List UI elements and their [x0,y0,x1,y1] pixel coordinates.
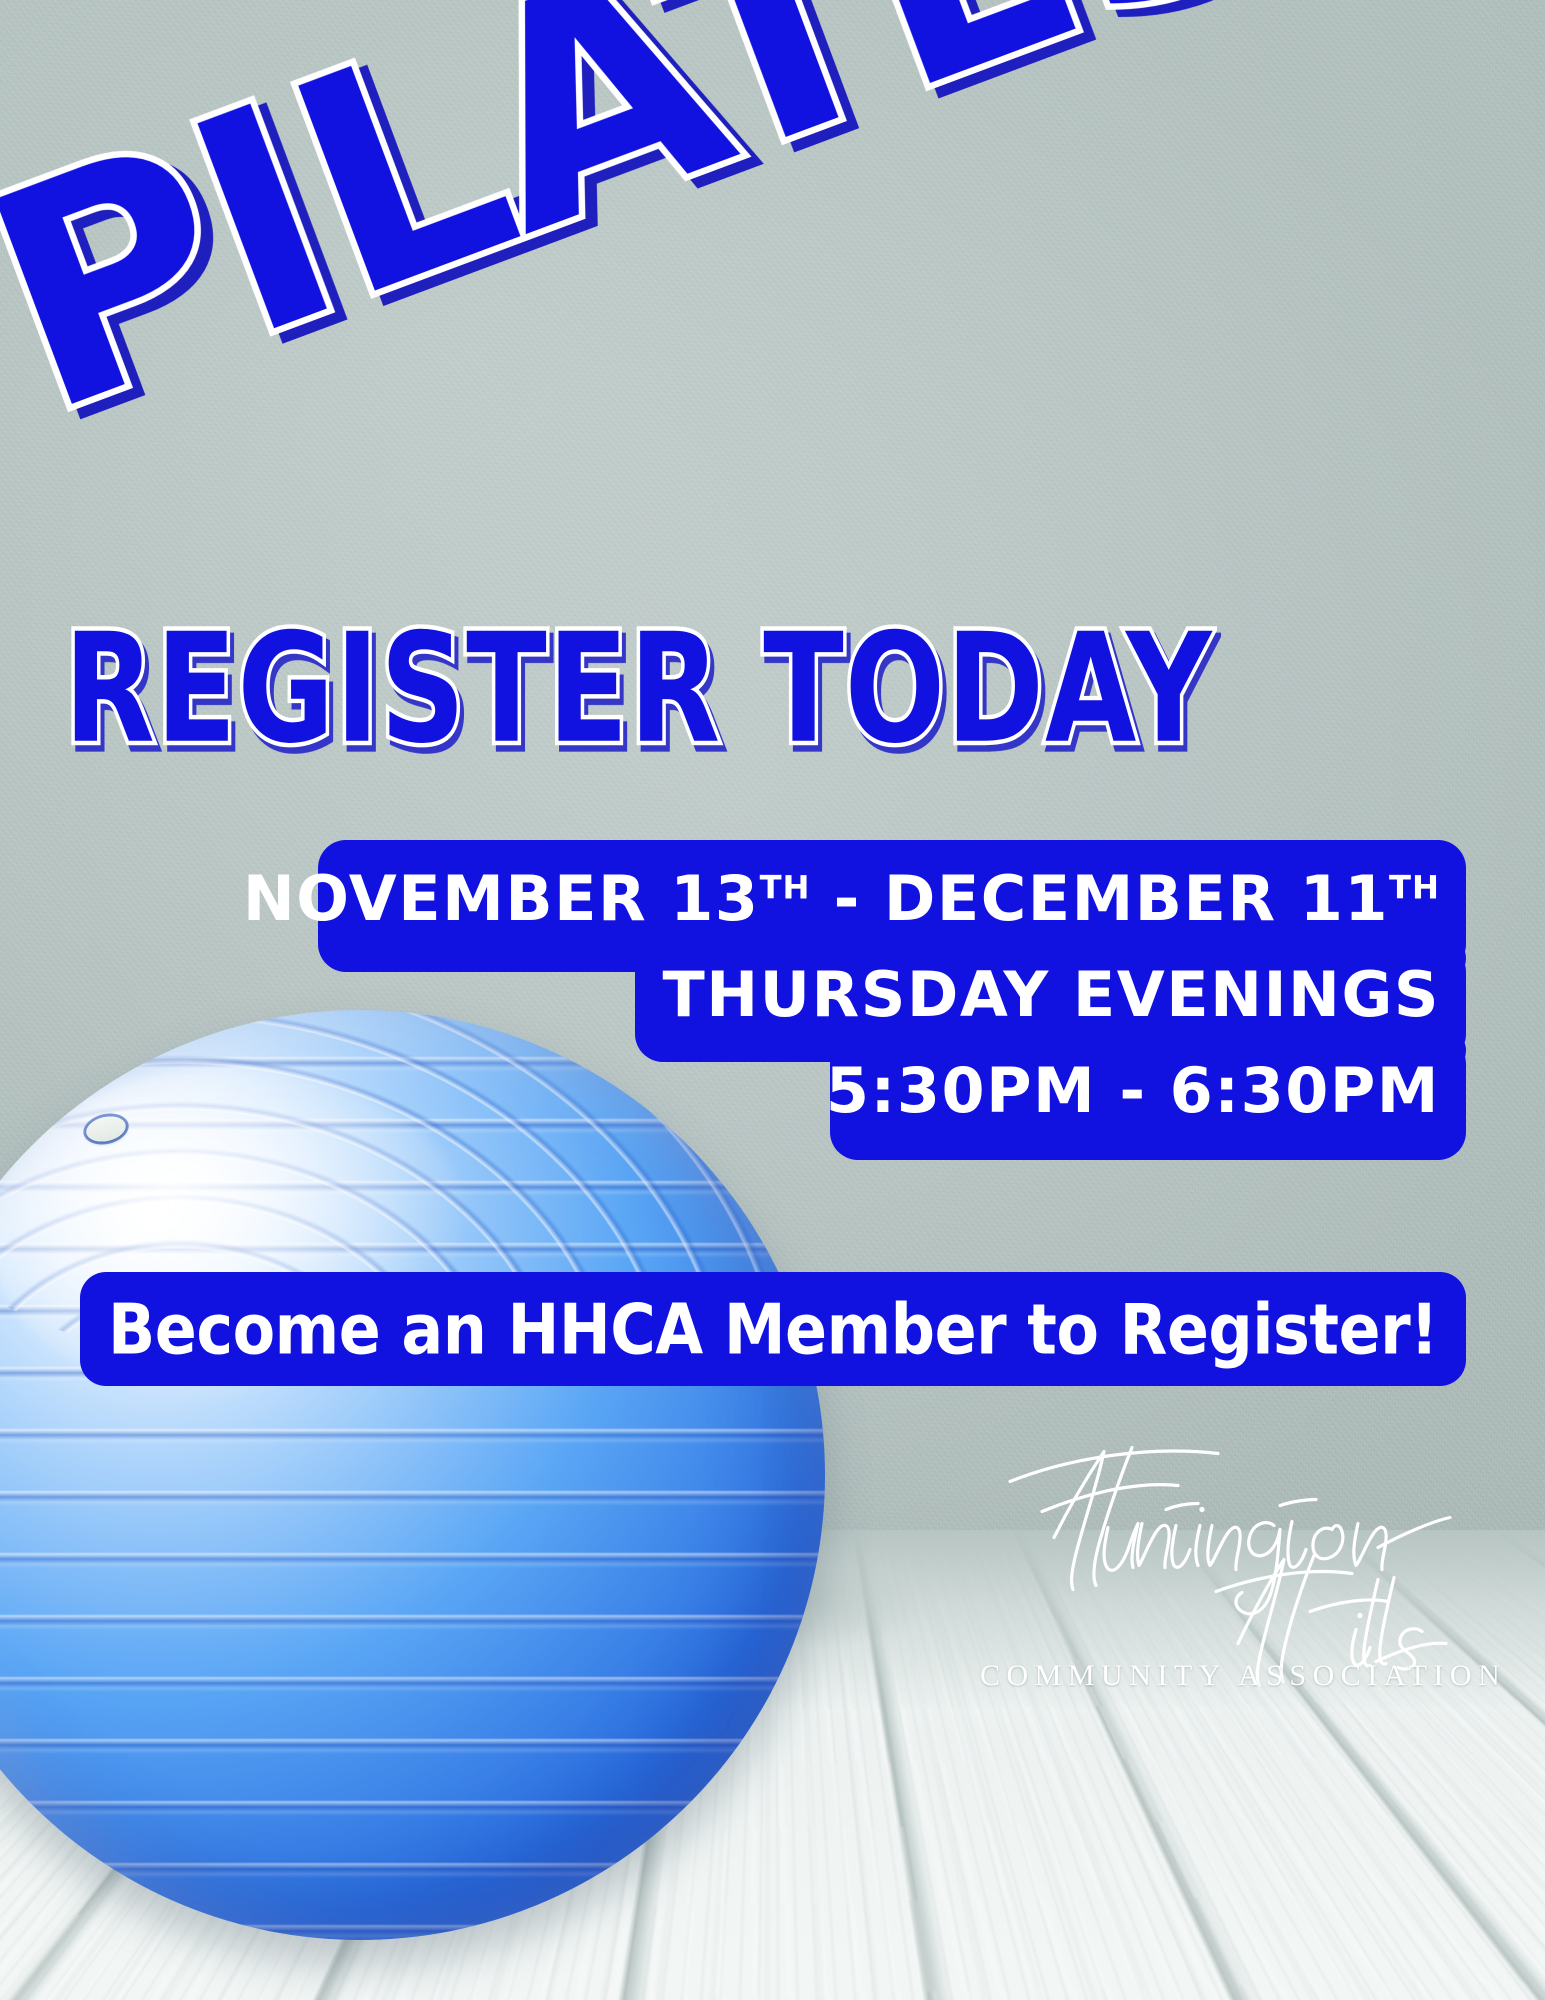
membership-callout-text: Become an HHCA Member to Register! [108,1288,1438,1370]
schedule-time: 5:30PM - 6:30PM [826,1060,1440,1122]
hhca-script-logo-icon [980,1412,1475,1697]
schedule-date-ordinal-1: TH [760,868,811,906]
schedule-text-block: NOVEMBER 13TH - DECEMBER 11TH THURSDAY E… [318,840,1466,1160]
pilates-title-area: PILATES [0,32,1140,502]
schedule-day: THURSDAY EVENINGS [663,964,1441,1026]
page-title: PILATES [0,0,1302,443]
membership-callout-banner: Become an HHCA Member to Register! [80,1272,1466,1386]
schedule-dates: NOVEMBER 13TH - DECEMBER 11TH [243,868,1440,930]
hhca-logo-subtitle: COMMUNITY ASSOCIATION [980,1659,1475,1693]
schedule-date-ordinal-2: TH [1389,868,1440,906]
poster-canvas: PILATES REGISTER TODAY NOVEMBER 13TH - D… [0,0,1545,2000]
page-subtitle: REGISTER TODAY [64,600,1212,777]
hhca-logo: COMMUNITY ASSOCIATION [980,1412,1475,1697]
schedule-date-prefix: NOVEMBER 13 [243,862,760,935]
schedule-panel: NOVEMBER 13TH - DECEMBER 11TH THURSDAY E… [318,840,1466,1160]
schedule-date-middle: - DECEMBER 11 [811,862,1390,935]
